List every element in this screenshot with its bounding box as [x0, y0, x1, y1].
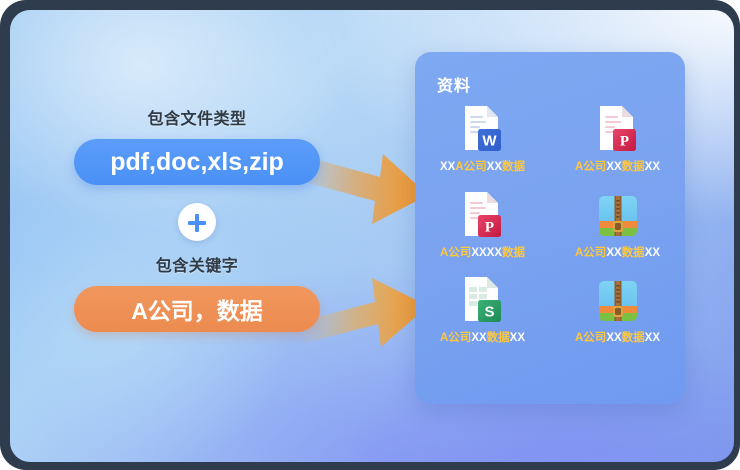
- pdf-document-icon: P: [595, 104, 641, 154]
- keyword-condition-label: 包含关键字: [62, 259, 332, 275]
- keyword-condition-pill[interactable]: A公司，数据: [74, 286, 320, 332]
- file-item[interactable]: P A公司XXXX数据: [415, 190, 550, 260]
- file-name-label: XXA公司XX数据: [440, 161, 525, 174]
- filetype-condition-label: 包含文件类型: [62, 112, 332, 128]
- file-name-label: A公司XX数据XX: [575, 161, 660, 174]
- zip-archive-icon: [595, 275, 641, 325]
- zip-archive-icon: [595, 190, 641, 240]
- file-name-label: A公司XX数据XX: [575, 247, 660, 260]
- pdf-document-icon: P: [460, 190, 506, 240]
- file-grid: W XXA公司XX数据 P A公司XX数据XX P: [415, 104, 685, 345]
- svg-text:S: S: [484, 304, 494, 321]
- excel-spreadsheet-icon: S: [460, 275, 506, 325]
- pdf-document-icon: P: [595, 104, 641, 154]
- file-item[interactable]: A公司XX数据XX: [550, 275, 685, 345]
- zip-archive-icon: [595, 275, 641, 325]
- word-document-icon: W: [460, 104, 506, 154]
- word-document-icon: W: [460, 104, 506, 154]
- svg-text:P: P: [619, 134, 628, 150]
- file-name-label: A公司XX数据XX: [440, 332, 525, 345]
- excel-spreadsheet-icon: S: [460, 275, 506, 325]
- results-panel-title: 资料: [437, 72, 471, 96]
- svg-text:P: P: [484, 219, 493, 235]
- file-name-label: A公司XX数据XX: [575, 332, 660, 345]
- plus-icon: [178, 203, 216, 241]
- illustration-canvas: 包含文件类型 pdf,doc,xls,zip 包含关键字 A公司，数据 资料 W…: [10, 10, 734, 462]
- zip-archive-icon: [595, 190, 641, 240]
- file-name-label: A公司XXXX数据: [440, 247, 525, 260]
- file-item[interactable]: A公司XX数据XX: [550, 190, 685, 260]
- file-item[interactable]: W XXA公司XX数据: [415, 104, 550, 174]
- filetype-condition-pill[interactable]: pdf,doc,xls,zip: [74, 139, 320, 185]
- svg-text:W: W: [482, 133, 497, 150]
- pdf-document-icon: P: [460, 190, 506, 240]
- file-item[interactable]: S A公司XX数据XX: [415, 275, 550, 345]
- app-frame: 包含文件类型 pdf,doc,xls,zip 包含关键字 A公司，数据 资料 W…: [0, 0, 740, 470]
- results-panel: 资料 W XXA公司XX数据: [415, 52, 685, 404]
- file-item[interactable]: P A公司XX数据XX: [550, 104, 685, 174]
- search-conditions: 包含文件类型 pdf,doc,xls,zip 包含关键字 A公司，数据: [62, 112, 332, 332]
